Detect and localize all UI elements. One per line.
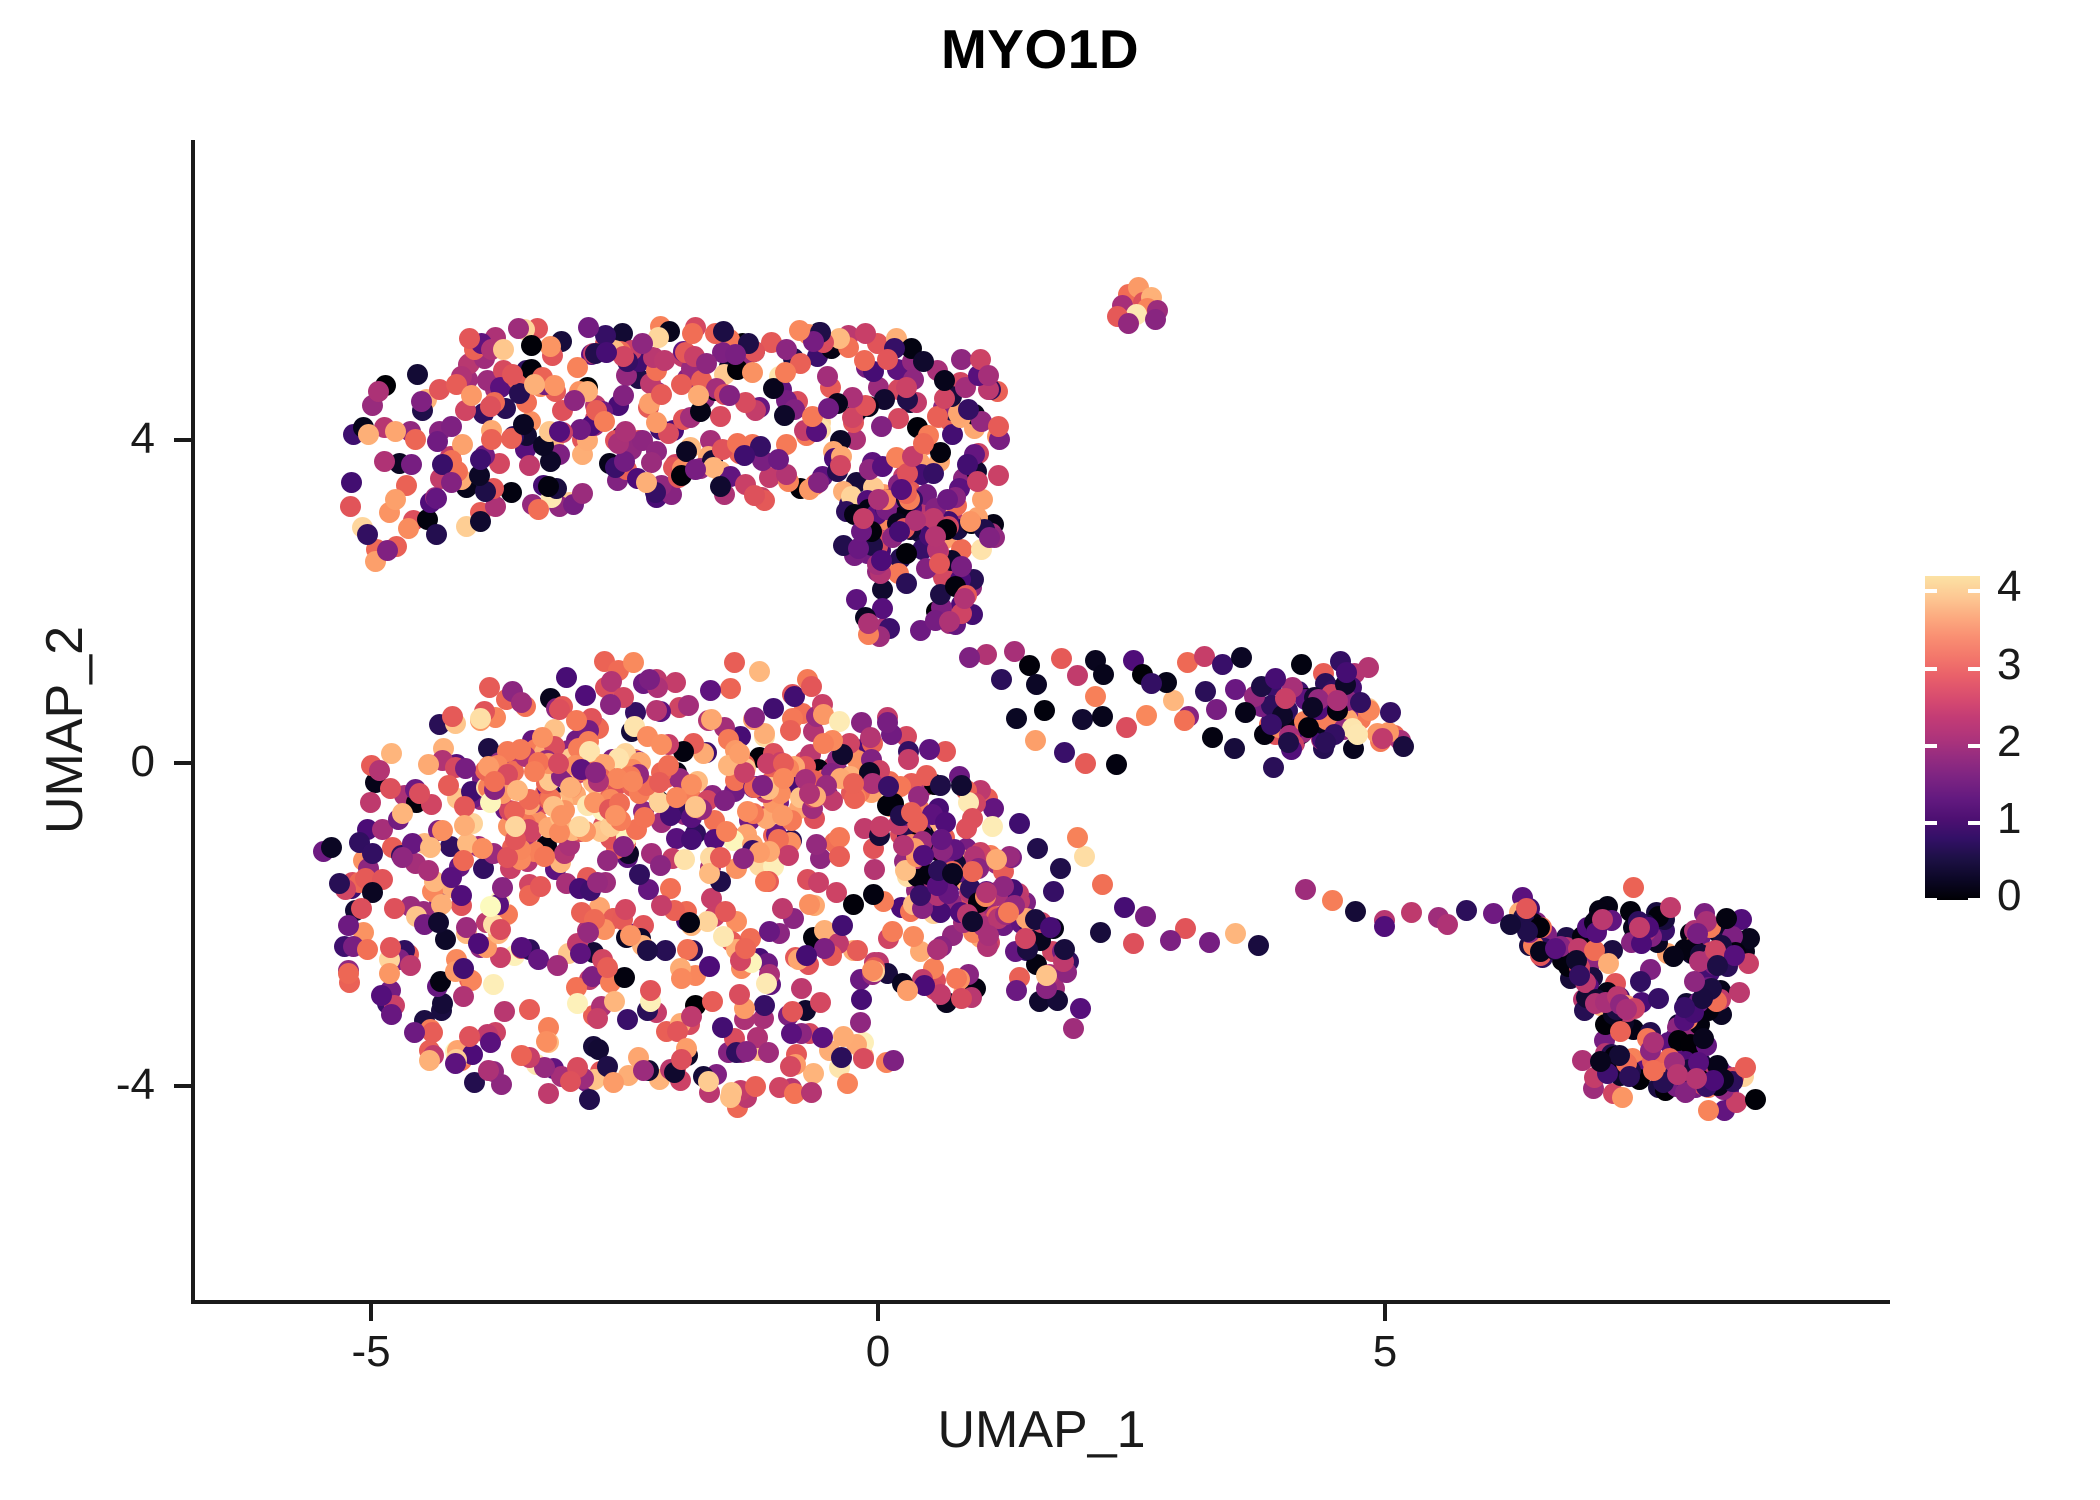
scatter-point xyxy=(896,543,917,564)
colorbar-tick xyxy=(1925,667,1937,671)
x-axis-tick xyxy=(1383,1304,1387,1321)
scatter-point xyxy=(1500,914,1521,935)
scatter-point xyxy=(685,459,706,480)
scatter-point xyxy=(843,894,864,915)
colorbar-tick xyxy=(1968,667,1980,671)
scatter-point xyxy=(1106,754,1127,775)
scatter-point xyxy=(478,1060,499,1081)
scatter-point xyxy=(1093,664,1114,685)
scatter-point xyxy=(962,911,983,932)
scatter-point xyxy=(851,989,872,1010)
scatter-point xyxy=(1401,902,1422,923)
scatter-point xyxy=(685,796,706,817)
scatter-point xyxy=(409,783,430,804)
scatter-point xyxy=(1729,982,1750,1003)
scatter-point xyxy=(511,1045,532,1066)
scatter-point xyxy=(483,974,504,995)
scatter-point xyxy=(524,374,545,395)
scatter-point xyxy=(712,1017,733,1038)
scatter-point xyxy=(646,700,667,721)
scatter-point xyxy=(455,758,476,779)
scatter-point xyxy=(400,955,421,976)
scatter-point xyxy=(681,829,702,850)
scatter-point xyxy=(441,472,462,493)
scatter-point xyxy=(799,783,820,804)
scatter-point xyxy=(329,873,350,894)
scatter-point xyxy=(1716,908,1737,929)
scatter-point xyxy=(700,680,721,701)
scatter-point xyxy=(1275,688,1296,709)
scatter-point xyxy=(603,1072,624,1093)
scatter-point xyxy=(978,365,999,386)
scatter-point xyxy=(641,452,662,473)
scatter-point xyxy=(1393,736,1414,757)
scatter-point xyxy=(877,349,898,370)
scatter-point xyxy=(919,739,940,760)
scatter-point xyxy=(1009,813,1030,834)
scatter-point xyxy=(678,695,699,716)
scatter-point xyxy=(1674,997,1695,1018)
scatter-point xyxy=(864,859,885,880)
scatter-point xyxy=(404,1022,425,1043)
scatter-point xyxy=(812,1027,833,1048)
scatter-point xyxy=(665,672,686,693)
scatter-point xyxy=(813,733,834,754)
scatter-point xyxy=(513,414,534,435)
scatter-point xyxy=(913,433,934,454)
scatter-point xyxy=(578,317,599,338)
scatter-point xyxy=(341,472,362,493)
scatter-point xyxy=(883,1050,904,1071)
scatter-point xyxy=(832,915,853,936)
scatter-point xyxy=(1015,928,1036,949)
scatter-point xyxy=(549,421,570,442)
scatter-point xyxy=(744,707,765,728)
scatter-point xyxy=(1074,846,1095,867)
scatter-point xyxy=(358,424,379,445)
scatter-point xyxy=(1372,728,1393,749)
scatter-point xyxy=(1545,938,1566,959)
scatter-point xyxy=(829,827,850,848)
scatter-point xyxy=(502,364,523,385)
scatter-point xyxy=(587,872,608,893)
scatter-point xyxy=(566,710,587,731)
scatter-point xyxy=(1745,1089,1766,1110)
scatter-point xyxy=(758,1042,779,1063)
scatter-point xyxy=(1648,988,1669,1009)
scatter-point xyxy=(1707,955,1728,976)
scatter-point xyxy=(1235,702,1256,723)
scatter-point xyxy=(492,877,513,898)
scatter-point xyxy=(538,1083,559,1104)
scatter-point xyxy=(481,429,502,450)
scatter-point xyxy=(1085,686,1106,707)
scatter-point xyxy=(521,335,542,356)
scatter-point xyxy=(1350,692,1371,713)
scatter-point xyxy=(991,669,1012,690)
scatter-point xyxy=(891,479,912,500)
scatter-point xyxy=(674,849,695,870)
x-axis-tick-label: -5 xyxy=(291,1327,451,1377)
scatter-point xyxy=(677,939,698,960)
scatter-point xyxy=(1123,933,1144,954)
scatter-point xyxy=(734,445,755,466)
scatter-point xyxy=(1225,923,1246,944)
scatter-point xyxy=(998,902,1019,923)
scatter-point xyxy=(519,999,540,1020)
scatter-point xyxy=(1027,838,1048,859)
scatter-point xyxy=(724,652,745,673)
scatter-point xyxy=(1224,738,1245,759)
scatter-point xyxy=(540,336,561,357)
scatter-point xyxy=(594,411,615,432)
scatter-point xyxy=(713,926,734,947)
scatter-point xyxy=(1437,914,1458,935)
scatter-point xyxy=(729,743,750,764)
scatter-point xyxy=(480,896,501,917)
scatter-point xyxy=(1347,724,1368,745)
scatter-point xyxy=(636,472,657,493)
scatter-point xyxy=(699,956,720,977)
scatter-point xyxy=(445,1053,466,1074)
scatter-point xyxy=(1135,906,1156,927)
scatter-point xyxy=(632,333,653,354)
scatter-point xyxy=(1006,980,1027,1001)
scatter-point xyxy=(810,992,831,1013)
scatter-point xyxy=(453,986,474,1007)
scatter-point xyxy=(1043,881,1064,902)
scatter-point xyxy=(1136,705,1157,726)
scatter-point xyxy=(1248,935,1269,956)
page-title: MYO1D xyxy=(0,22,2080,77)
scatter-point xyxy=(1684,971,1705,992)
scatter-point xyxy=(1569,965,1590,986)
scatter-point xyxy=(597,850,618,871)
scatter-point xyxy=(617,1009,638,1030)
scatter-point xyxy=(927,939,948,960)
scatter-point xyxy=(551,805,572,826)
scatter-point xyxy=(534,846,555,867)
scatter-point xyxy=(401,454,422,475)
scatter-point xyxy=(1202,727,1223,748)
scatter-point xyxy=(596,342,617,363)
scatter-point xyxy=(1592,909,1613,930)
colorbar-tick-label: 0 xyxy=(1997,874,2021,918)
scatter-point xyxy=(507,780,528,801)
scatter-point xyxy=(377,540,398,561)
scatter-point xyxy=(1380,702,1401,723)
scatter-point xyxy=(710,476,731,497)
scatter-point xyxy=(1609,1045,1630,1066)
scatter-point xyxy=(1206,699,1227,720)
scatter-point xyxy=(1610,1021,1631,1042)
scatter-point xyxy=(701,709,722,730)
scatter-point xyxy=(774,405,795,426)
scatter-point xyxy=(870,816,891,837)
scatter-point xyxy=(369,760,390,781)
scatter-point xyxy=(882,921,903,942)
x-axis-tick-label: 0 xyxy=(798,1327,958,1377)
scatter-point xyxy=(796,945,817,966)
y-axis-tick-label: -4 xyxy=(0,1060,155,1110)
scatter-point xyxy=(1025,730,1046,751)
scatter-point xyxy=(972,489,993,510)
scatter-point xyxy=(745,1076,766,1097)
scatter-point xyxy=(1063,1018,1084,1039)
scatter-point xyxy=(671,1049,692,1070)
y-axis-label: UMAP_2 xyxy=(35,149,95,1311)
scatter-point xyxy=(958,399,979,420)
scatter-point xyxy=(600,694,621,715)
scatter-point xyxy=(737,801,758,822)
scatter-point xyxy=(775,362,796,383)
scatter-point xyxy=(1619,1066,1640,1087)
scatter-point xyxy=(340,496,361,517)
scatter-point xyxy=(1067,827,1088,848)
scatter-point xyxy=(418,754,439,775)
scatter-point xyxy=(451,885,472,906)
scatter-point xyxy=(615,421,636,442)
scatter-point xyxy=(1327,690,1348,711)
scatter-point xyxy=(1051,648,1072,669)
colorbar-gradient xyxy=(1925,576,1980,900)
x-axis-tick-label: 5 xyxy=(1305,1327,1465,1377)
scatter-point xyxy=(710,406,731,427)
scatter-point xyxy=(853,1048,874,1069)
scatter-point xyxy=(773,768,794,789)
scatter-point xyxy=(1345,901,1366,922)
scatter-point xyxy=(1295,879,1316,900)
scatter-point xyxy=(564,390,585,411)
scatter-point xyxy=(407,364,428,385)
scatter-point xyxy=(988,465,1009,486)
scatter-point xyxy=(843,773,864,794)
scatter-point xyxy=(511,692,532,713)
scatter-point xyxy=(493,339,514,360)
umap-feature-plot: MYO1D UMAP_1 UMAP_2 43210 40-4-505 xyxy=(0,0,2100,1500)
scatter-point xyxy=(951,349,972,370)
scatter-point xyxy=(1160,930,1181,951)
scatter-point xyxy=(1616,999,1637,1020)
plot-panel xyxy=(193,140,1890,1302)
colorbar-tick-label: 4 xyxy=(1997,565,2021,609)
scatter-point xyxy=(682,323,703,344)
scatter-point xyxy=(438,775,459,796)
scatter-point xyxy=(808,472,829,493)
scatter-point xyxy=(853,508,874,529)
scatter-point xyxy=(1667,1064,1688,1085)
scatter-point xyxy=(398,518,419,539)
scatter-point xyxy=(426,524,447,545)
scatter-point xyxy=(986,849,1007,870)
scatter-point xyxy=(338,915,359,936)
scatter-point xyxy=(587,1008,608,1029)
scatter-point xyxy=(976,882,997,903)
scatter-point xyxy=(871,550,892,571)
colorbar-tick xyxy=(1968,821,1980,825)
scatter-point xyxy=(649,772,670,793)
scatter-point xyxy=(725,344,746,365)
scatter-point xyxy=(560,1071,581,1092)
scatter-point xyxy=(1686,1068,1707,1089)
scatter-point xyxy=(939,611,960,632)
scatter-point xyxy=(951,988,972,1009)
scatter-point xyxy=(982,816,1003,837)
scatter-point xyxy=(385,489,406,510)
scatter-point xyxy=(1174,710,1195,731)
y-axis-tick xyxy=(174,761,191,765)
scatter-point xyxy=(441,416,462,437)
scatter-point xyxy=(778,845,799,866)
scatter-point xyxy=(780,720,801,741)
scatter-point xyxy=(1026,674,1047,695)
colorbar-tick xyxy=(1968,898,1980,902)
scatter-point xyxy=(655,940,676,961)
scatter-point xyxy=(897,980,918,1001)
scatter-point xyxy=(654,350,675,371)
colorbar-tick xyxy=(1925,589,1937,593)
scatter-point xyxy=(585,762,606,783)
scatter-point xyxy=(1054,742,1075,763)
scatter-point xyxy=(1630,971,1651,992)
scatter-point xyxy=(896,573,917,594)
scatter-point xyxy=(639,669,660,690)
scatter-point xyxy=(871,416,892,437)
scatter-point xyxy=(1114,897,1135,918)
scatter-point xyxy=(1090,922,1111,943)
scatter-point xyxy=(756,973,777,994)
scatter-point xyxy=(671,968,692,989)
scatter-point xyxy=(681,1006,702,1027)
scatter-point xyxy=(930,775,951,796)
scatter-point xyxy=(650,855,671,876)
scatter-point xyxy=(817,366,838,387)
scatter-point xyxy=(623,652,644,673)
scatter-point xyxy=(622,771,643,792)
scatter-point xyxy=(829,711,850,732)
scatter-point xyxy=(720,678,741,699)
y-axis-tick-label: 4 xyxy=(0,414,155,464)
scatter-point xyxy=(742,362,763,383)
scatter-point xyxy=(896,377,917,398)
scatter-point xyxy=(1118,313,1139,334)
colorbar-tick-label: 3 xyxy=(1997,643,2021,687)
scatter-point xyxy=(426,488,447,509)
scatter-point xyxy=(575,685,596,706)
scatter-point xyxy=(453,958,474,979)
scatter-point xyxy=(613,385,634,406)
scatter-point xyxy=(1660,897,1681,918)
scatter-point xyxy=(1693,1028,1714,1049)
scatter-point xyxy=(547,955,568,976)
scatter-point xyxy=(470,449,491,470)
scatter-point xyxy=(956,818,977,839)
x-axis-label: UMAP_1 xyxy=(193,1400,1890,1460)
scatter-point xyxy=(1231,647,1252,668)
scatter-point xyxy=(1116,717,1137,738)
scatter-point xyxy=(1092,874,1113,895)
scatter-point xyxy=(791,978,812,999)
scatter-point xyxy=(1199,932,1220,953)
scatter-point xyxy=(392,803,413,824)
scatter-point xyxy=(1195,681,1216,702)
scatter-point xyxy=(959,647,980,668)
scatter-point xyxy=(411,391,432,412)
scatter-point xyxy=(1075,753,1096,774)
colorbar-tick xyxy=(1925,821,1937,825)
scatter-point xyxy=(1336,662,1357,683)
scatter-point xyxy=(749,661,770,682)
scatter-point xyxy=(536,1031,557,1052)
scatter-point xyxy=(1358,657,1379,678)
scatter-point xyxy=(806,834,827,855)
scatter-point xyxy=(494,1001,515,1022)
scatter-point xyxy=(1067,665,1088,686)
scatter-point xyxy=(1687,923,1708,944)
scatter-point xyxy=(519,455,540,476)
scatter-point xyxy=(744,485,765,506)
scatter-point xyxy=(1735,1057,1756,1078)
scatter-point xyxy=(501,482,522,503)
scatter-point xyxy=(384,898,405,919)
scatter-point xyxy=(923,463,944,484)
scatter-point xyxy=(696,353,717,374)
scatter-point xyxy=(898,749,919,770)
scatter-point xyxy=(556,667,577,688)
scatter-point xyxy=(850,1012,871,1033)
scatter-point xyxy=(381,1004,402,1025)
scatter-point xyxy=(459,1026,480,1047)
scatter-point xyxy=(362,843,383,864)
scatter-point xyxy=(578,922,599,943)
colorbar-tick xyxy=(1925,898,1937,902)
scatter-point xyxy=(1291,654,1312,675)
scatter-point xyxy=(1145,309,1166,330)
scatter-point xyxy=(679,912,700,933)
scatter-point xyxy=(901,802,922,823)
scatter-point xyxy=(1092,706,1113,727)
scatter-point xyxy=(799,894,820,915)
scatter-point xyxy=(1598,953,1619,974)
scatter-point xyxy=(860,727,881,748)
scatter-point xyxy=(951,556,972,577)
scatter-point xyxy=(1225,679,1246,700)
scatter-point xyxy=(666,787,687,808)
scatter-point xyxy=(735,938,756,959)
scatter-point xyxy=(405,429,426,450)
scatter-point xyxy=(868,489,889,510)
scatter-point xyxy=(432,820,453,841)
scatter-point xyxy=(560,777,581,798)
scatter-point xyxy=(528,499,549,520)
scatter-point xyxy=(570,943,591,964)
x-axis-tick xyxy=(369,1304,373,1321)
scatter-point xyxy=(371,985,392,1006)
scatter-point xyxy=(1623,877,1644,898)
scatter-point xyxy=(357,939,378,960)
scatter-point xyxy=(752,775,773,796)
scatter-point xyxy=(1072,709,1093,730)
scatter-point xyxy=(321,837,342,858)
scatter-point xyxy=(1265,668,1286,689)
scatter-point xyxy=(532,727,553,748)
scatter-point xyxy=(428,912,449,933)
scatter-point xyxy=(1643,1032,1664,1053)
scatter-point xyxy=(453,850,474,871)
scatter-point xyxy=(614,451,635,472)
y-axis-tick xyxy=(174,438,191,442)
scatter-point xyxy=(484,771,505,792)
